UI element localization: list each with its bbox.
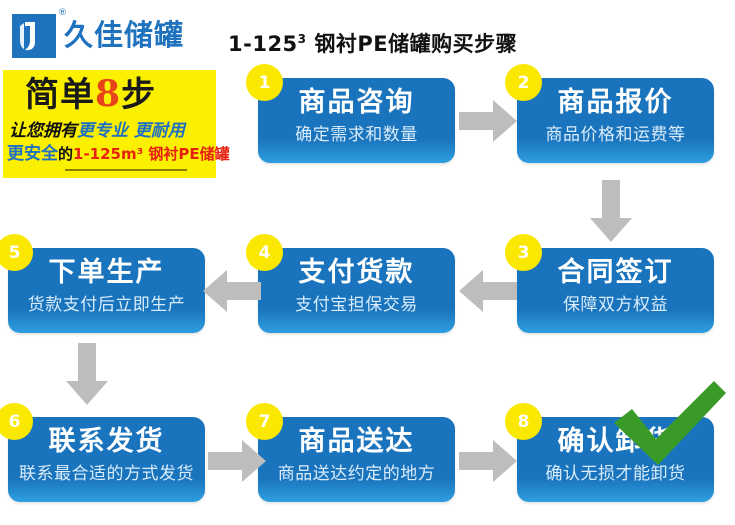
brand-logo: ® 久佳储罐 bbox=[12, 6, 192, 62]
step-subtitle-4: 支付宝担保交易 bbox=[258, 294, 455, 316]
step-box-4[interactable]: 4 支付货款 支付宝担保交易 bbox=[258, 248, 455, 333]
step-subtitle-6: 联系最合适的方式发货 bbox=[8, 463, 205, 485]
promo-headline-part1: 简单 bbox=[25, 75, 95, 115]
arrow-down-icon-step5-step6 bbox=[66, 343, 108, 405]
step-title-2: 商品报价 bbox=[517, 87, 714, 119]
brand-name: 久佳储罐 bbox=[64, 18, 184, 52]
step-subtitle-2: 商品价格和运费等 bbox=[517, 124, 714, 146]
green-check-icon bbox=[610, 381, 728, 475]
promo-subline-2-blue: 更安全 bbox=[7, 144, 58, 164]
promo-subline-1-black: 让您拥有 bbox=[9, 121, 77, 141]
arrow-down-icon-step2-step3 bbox=[590, 180, 632, 242]
step-box-5[interactable]: 5 下单生产 货款支付后立即生产 bbox=[8, 248, 205, 333]
arrow-left-icon-step4-step5 bbox=[203, 270, 261, 312]
arrow-right-icon-step6-step7 bbox=[208, 440, 266, 482]
step-subtitle-5: 货款支付后立即生产 bbox=[8, 294, 205, 316]
promo-headline-part2: 步 bbox=[121, 75, 156, 115]
step-box-1[interactable]: 1 商品咨询 确定需求和数量 bbox=[258, 78, 455, 163]
step-title-1: 商品咨询 bbox=[258, 87, 455, 119]
arrow-right-icon-step7-step8 bbox=[459, 440, 517, 482]
step-title-5: 下单生产 bbox=[8, 257, 205, 289]
promo-underline bbox=[65, 169, 187, 171]
promo-subline-1: 让您拥有更专业 更耐用 bbox=[9, 120, 185, 142]
page-title-rest: 钢衬PE储罐购买步骤 bbox=[307, 32, 518, 56]
registered-mark-icon: ® bbox=[58, 8, 67, 18]
page-title: 1-1253 钢衬PE储罐购买步骤 bbox=[228, 26, 517, 57]
promo-subline-2-black: 的 bbox=[58, 145, 73, 163]
step-title-4: 支付货款 bbox=[258, 257, 455, 289]
promo-headline: 简单8步 bbox=[25, 74, 156, 115]
promo-subline-1-blue: 更专业 更耐用 bbox=[77, 121, 185, 141]
book-j-logo-icon bbox=[12, 14, 56, 58]
step-title-7: 商品送达 bbox=[258, 426, 455, 458]
step-box-7[interactable]: 7 商品送达 商品送达约定的地方 bbox=[258, 417, 455, 502]
step-box-6[interactable]: 6 联系发货 联系最合适的方式发货 bbox=[8, 417, 205, 502]
promo-banner: 简单8步 让您拥有更专业 更耐用 更安全的1-125m³ 钢衬PE储罐 bbox=[3, 70, 216, 178]
promo-headline-number: 8 bbox=[95, 73, 121, 115]
step-title-3: 合同签订 bbox=[517, 257, 714, 289]
page-title-prefix: 1-125 bbox=[228, 32, 298, 56]
step-subtitle-1: 确定需求和数量 bbox=[258, 124, 455, 146]
step-subtitle-7: 商品送达约定的地方 bbox=[258, 463, 455, 485]
step-title-6: 联系发货 bbox=[8, 426, 205, 458]
promo-subline-2-red: 1-125m³ 钢衬PE储罐 bbox=[73, 145, 230, 163]
step-box-2[interactable]: 2 商品报价 商品价格和运费等 bbox=[517, 78, 714, 163]
arrow-left-icon-step3-step4 bbox=[459, 270, 517, 312]
arrow-right-icon-step1-step2 bbox=[459, 100, 517, 142]
step-subtitle-3: 保障双方权益 bbox=[517, 294, 714, 316]
purchase-steps-infographic: ® 久佳储罐 1-1253 钢衬PE储罐购买步骤 简单8步 让您拥有更专业 更耐… bbox=[0, 0, 735, 525]
step-box-3[interactable]: 3 合同签订 保障双方权益 bbox=[517, 248, 714, 333]
page-title-superscript: 3 bbox=[298, 32, 307, 46]
promo-subline-2: 更安全的1-125m³ 钢衬PE储罐 bbox=[7, 143, 230, 165]
